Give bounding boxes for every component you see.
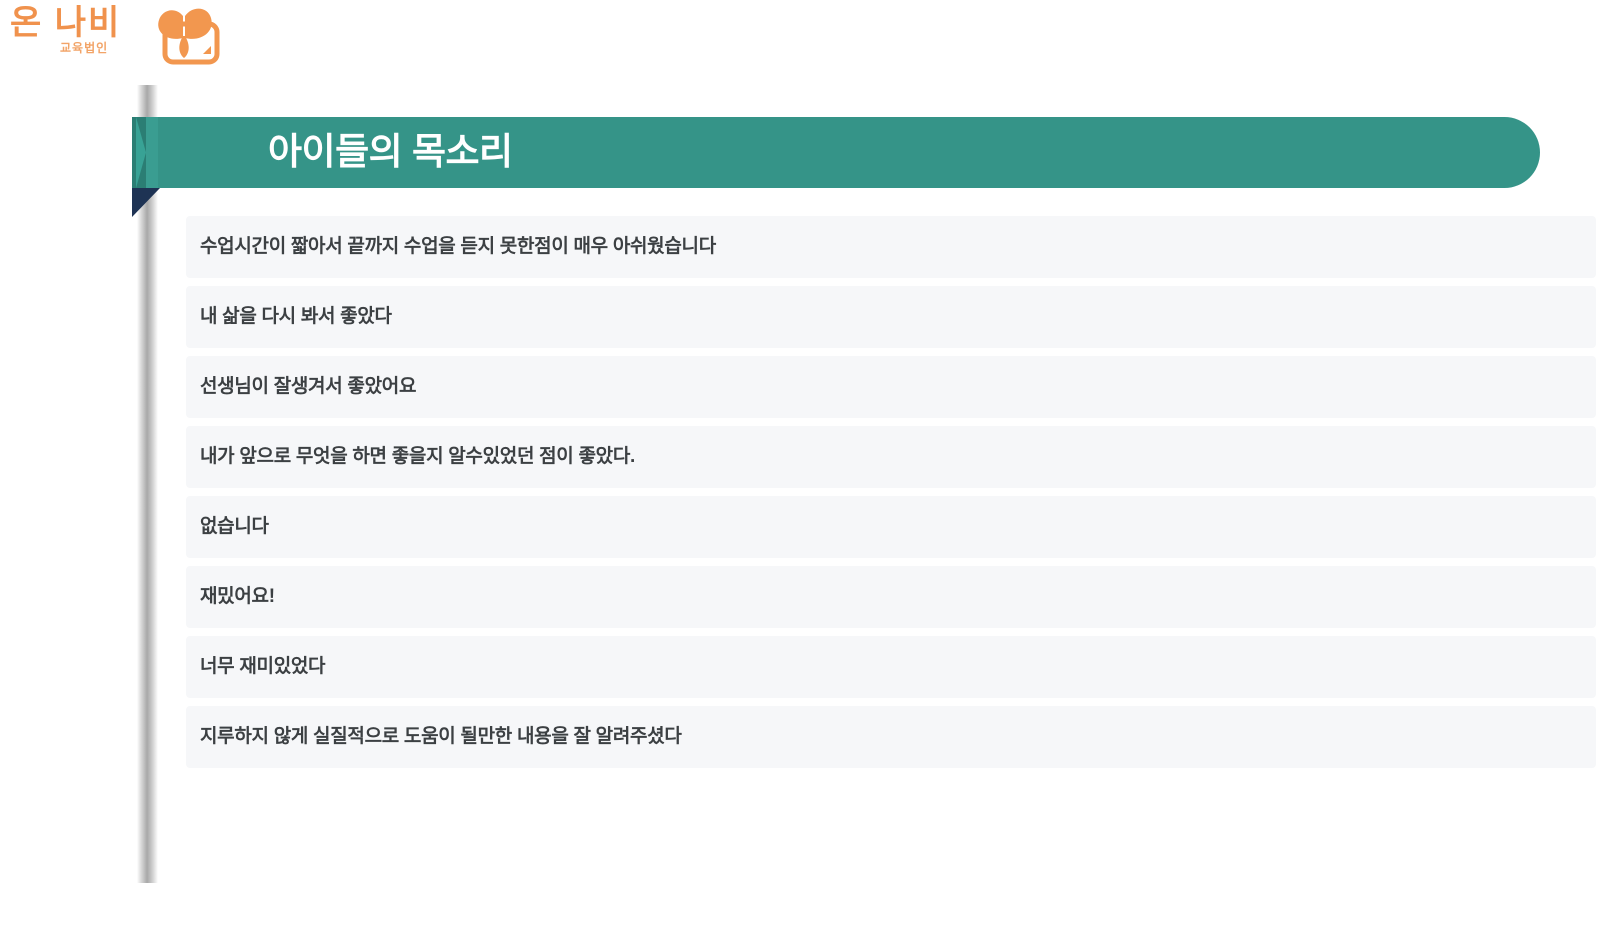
butterfly-over-frame-icon — [147, 2, 221, 66]
logo-wordmark: 온 나비 — [10, 6, 121, 40]
site-logo[interactable]: 온 나비 교육법인 — [8, 2, 222, 68]
list-item[interactable]: 재밌어요! — [186, 566, 1596, 628]
list-item[interactable]: 지루하지 않게 실질적으로 도움이 될만한 내용을 잘 알려주셨다 — [186, 706, 1596, 768]
voice-text: 지루하지 않게 실질적으로 도움이 될만한 내용을 잘 알려주셨다 — [200, 725, 682, 750]
voice-text: 너무 재미있었다 — [200, 655, 325, 680]
page-title: 아이들의 목소리 — [268, 125, 513, 179]
list-item[interactable]: 선생님이 잘생겨서 좋았어요 — [186, 356, 1596, 418]
voice-text: 없습니다 — [200, 515, 269, 540]
voice-text: 내가 앞으로 무엇을 하면 좋을지 알수있었던 점이 좋았다. — [200, 445, 635, 470]
list-item[interactable]: 너무 재미있었다 — [186, 636, 1596, 698]
banner-left-fold — [132, 117, 158, 188]
voice-text: 내 삶을 다시 봐서 좋았다 — [200, 305, 392, 330]
voice-text: 재밌어요! — [200, 585, 275, 610]
voice-text: 선생님이 잘생겨서 좋았어요 — [200, 375, 416, 400]
voices-list: 수업시간이 짧아서 끝까지 수업을 듣지 못한점이 매우 아쉬웠습니다 내 삶을… — [186, 216, 1596, 776]
voice-text: 수업시간이 짧아서 끝까지 수업을 듣지 못한점이 매우 아쉬웠습니다 — [200, 235, 716, 260]
logo-subtitle: 교육법인 — [60, 42, 108, 54]
banner-tail-triangle — [132, 188, 160, 217]
list-item[interactable]: 수업시간이 짧아서 끝까지 수업을 듣지 못한점이 매우 아쉬웠습니다 — [186, 216, 1596, 278]
list-item[interactable]: 없습니다 — [186, 496, 1596, 558]
list-item[interactable]: 내가 앞으로 무엇을 하면 좋을지 알수있었던 점이 좋았다. — [186, 426, 1596, 488]
list-item[interactable]: 내 삶을 다시 봐서 좋았다 — [186, 286, 1596, 348]
